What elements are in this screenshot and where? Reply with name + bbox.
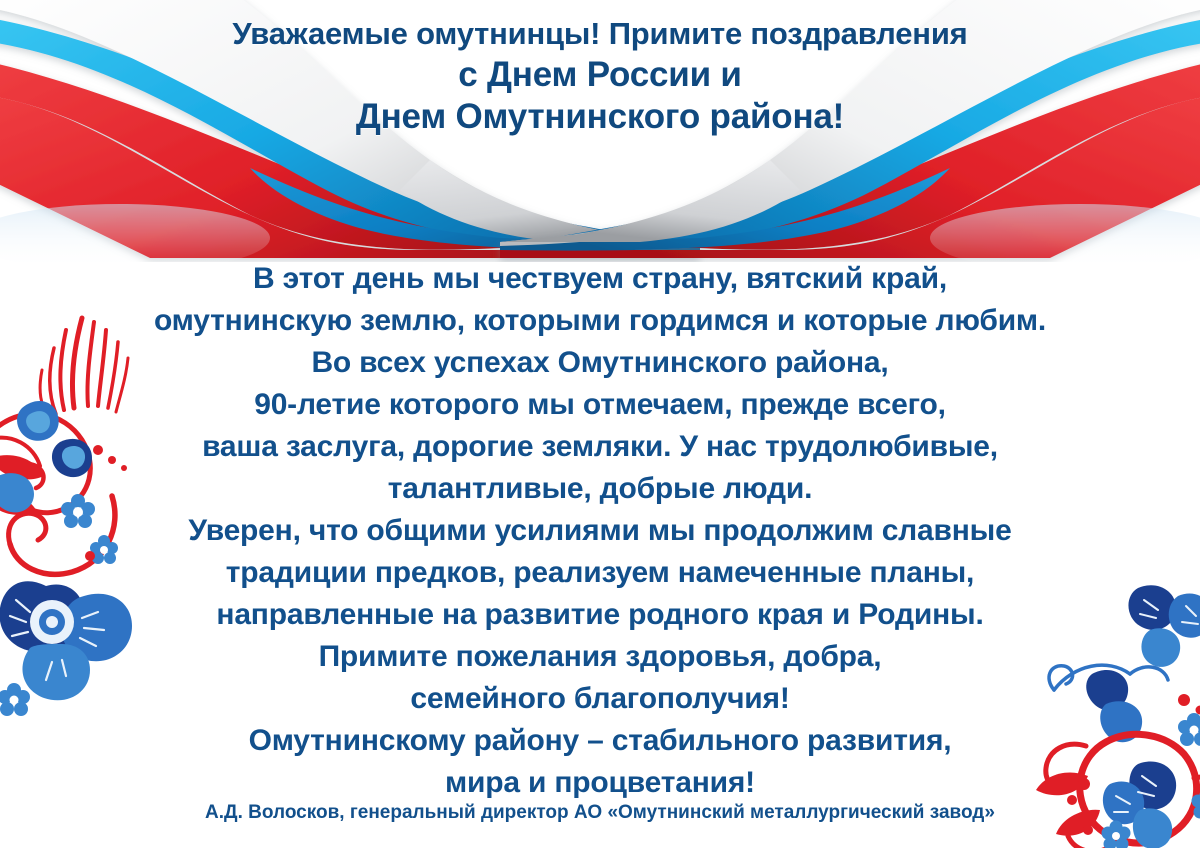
body-line-12: Омутнинскому району – стабильного развит… (0, 720, 1200, 762)
poster-content: Уважаемые омутнинцы! Примите поздравлени… (0, 0, 1200, 848)
poster-body-text: В этот день мы чествуем страну, вятский … (0, 258, 1200, 804)
body-line-2: омутнинскую землю, которыми гордимся и к… (0, 300, 1200, 342)
headline-line-3: Днем Омутнинского района! (0, 96, 1200, 138)
greeting-poster: Уважаемые омутнинцы! Примите поздравлени… (0, 0, 1200, 848)
body-line-7: Уверен, что общими усилиями мы продолжим… (0, 510, 1200, 552)
poster-headline: Уважаемые омутнинцы! Примите поздравлени… (0, 14, 1200, 138)
body-line-1: В этот день мы чествуем страну, вятский … (0, 258, 1200, 300)
body-line-11: семейного благополучия! (0, 678, 1200, 720)
body-line-6: талантливые, добрые люди. (0, 468, 1200, 510)
headline-line-1: Уважаемые омутнинцы! Примите поздравлени… (0, 14, 1200, 54)
body-line-10: Примите пожелания здоровья, добра, (0, 636, 1200, 678)
body-line-3: Во всех успехах Омутнинского района, (0, 342, 1200, 384)
body-line-4: 90-летие которого мы отмечаем, прежде вс… (0, 384, 1200, 426)
body-line-13: мира и процветания! (0, 762, 1200, 804)
body-line-9: направленные на развитие родного края и … (0, 594, 1200, 636)
body-line-5: ваша заслуга, дорогие земляки. У нас тру… (0, 426, 1200, 468)
headline-line-2: с Днем России и (0, 54, 1200, 96)
body-line-8: традиции предков, реализуем намеченные п… (0, 552, 1200, 594)
signature-line: А.Д. Волосков, генеральный директор АО «… (0, 800, 1200, 826)
